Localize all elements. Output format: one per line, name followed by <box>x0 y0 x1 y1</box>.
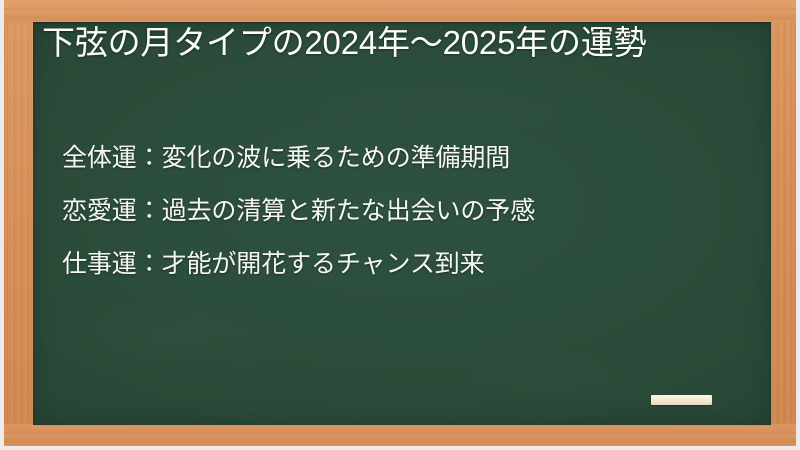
frame-rail-top <box>4 0 796 22</box>
chalk-stick-icon <box>651 395 712 405</box>
board-content: 下弦の月タイプの2024年～2025年の運勢 全体運：変化の波に乗るための準備期… <box>33 22 771 425</box>
chalkboard-slide: 下弦の月タイプの2024年～2025年の運勢 全体運：変化の波に乗るための準備期… <box>0 0 800 450</box>
fortune-item-love: 恋愛運：過去の清算と新たな出会いの予感 <box>62 199 752 252</box>
chalkboard-surface: 下弦の月タイプの2024年～2025年の運勢 全体運：変化の波に乗るための準備期… <box>33 22 771 425</box>
fortune-item-overall: 全体運：変化の波に乗るための準備期間 <box>62 146 752 199</box>
fortune-item-work: 仕事運：才能が開花するチャンス到来 <box>62 252 752 305</box>
board-title: 下弦の月タイプの2024年～2025年の運勢 <box>42 27 764 59</box>
fortune-list: 全体運：変化の波に乗るための準備期間 恋愛運：過去の清算と新たな出会いの予感 仕… <box>62 146 752 305</box>
frame-rail-bottom <box>4 423 796 446</box>
wooden-frame: 下弦の月タイプの2024年～2025年の運勢 全体運：変化の波に乗るための準備期… <box>4 0 796 446</box>
